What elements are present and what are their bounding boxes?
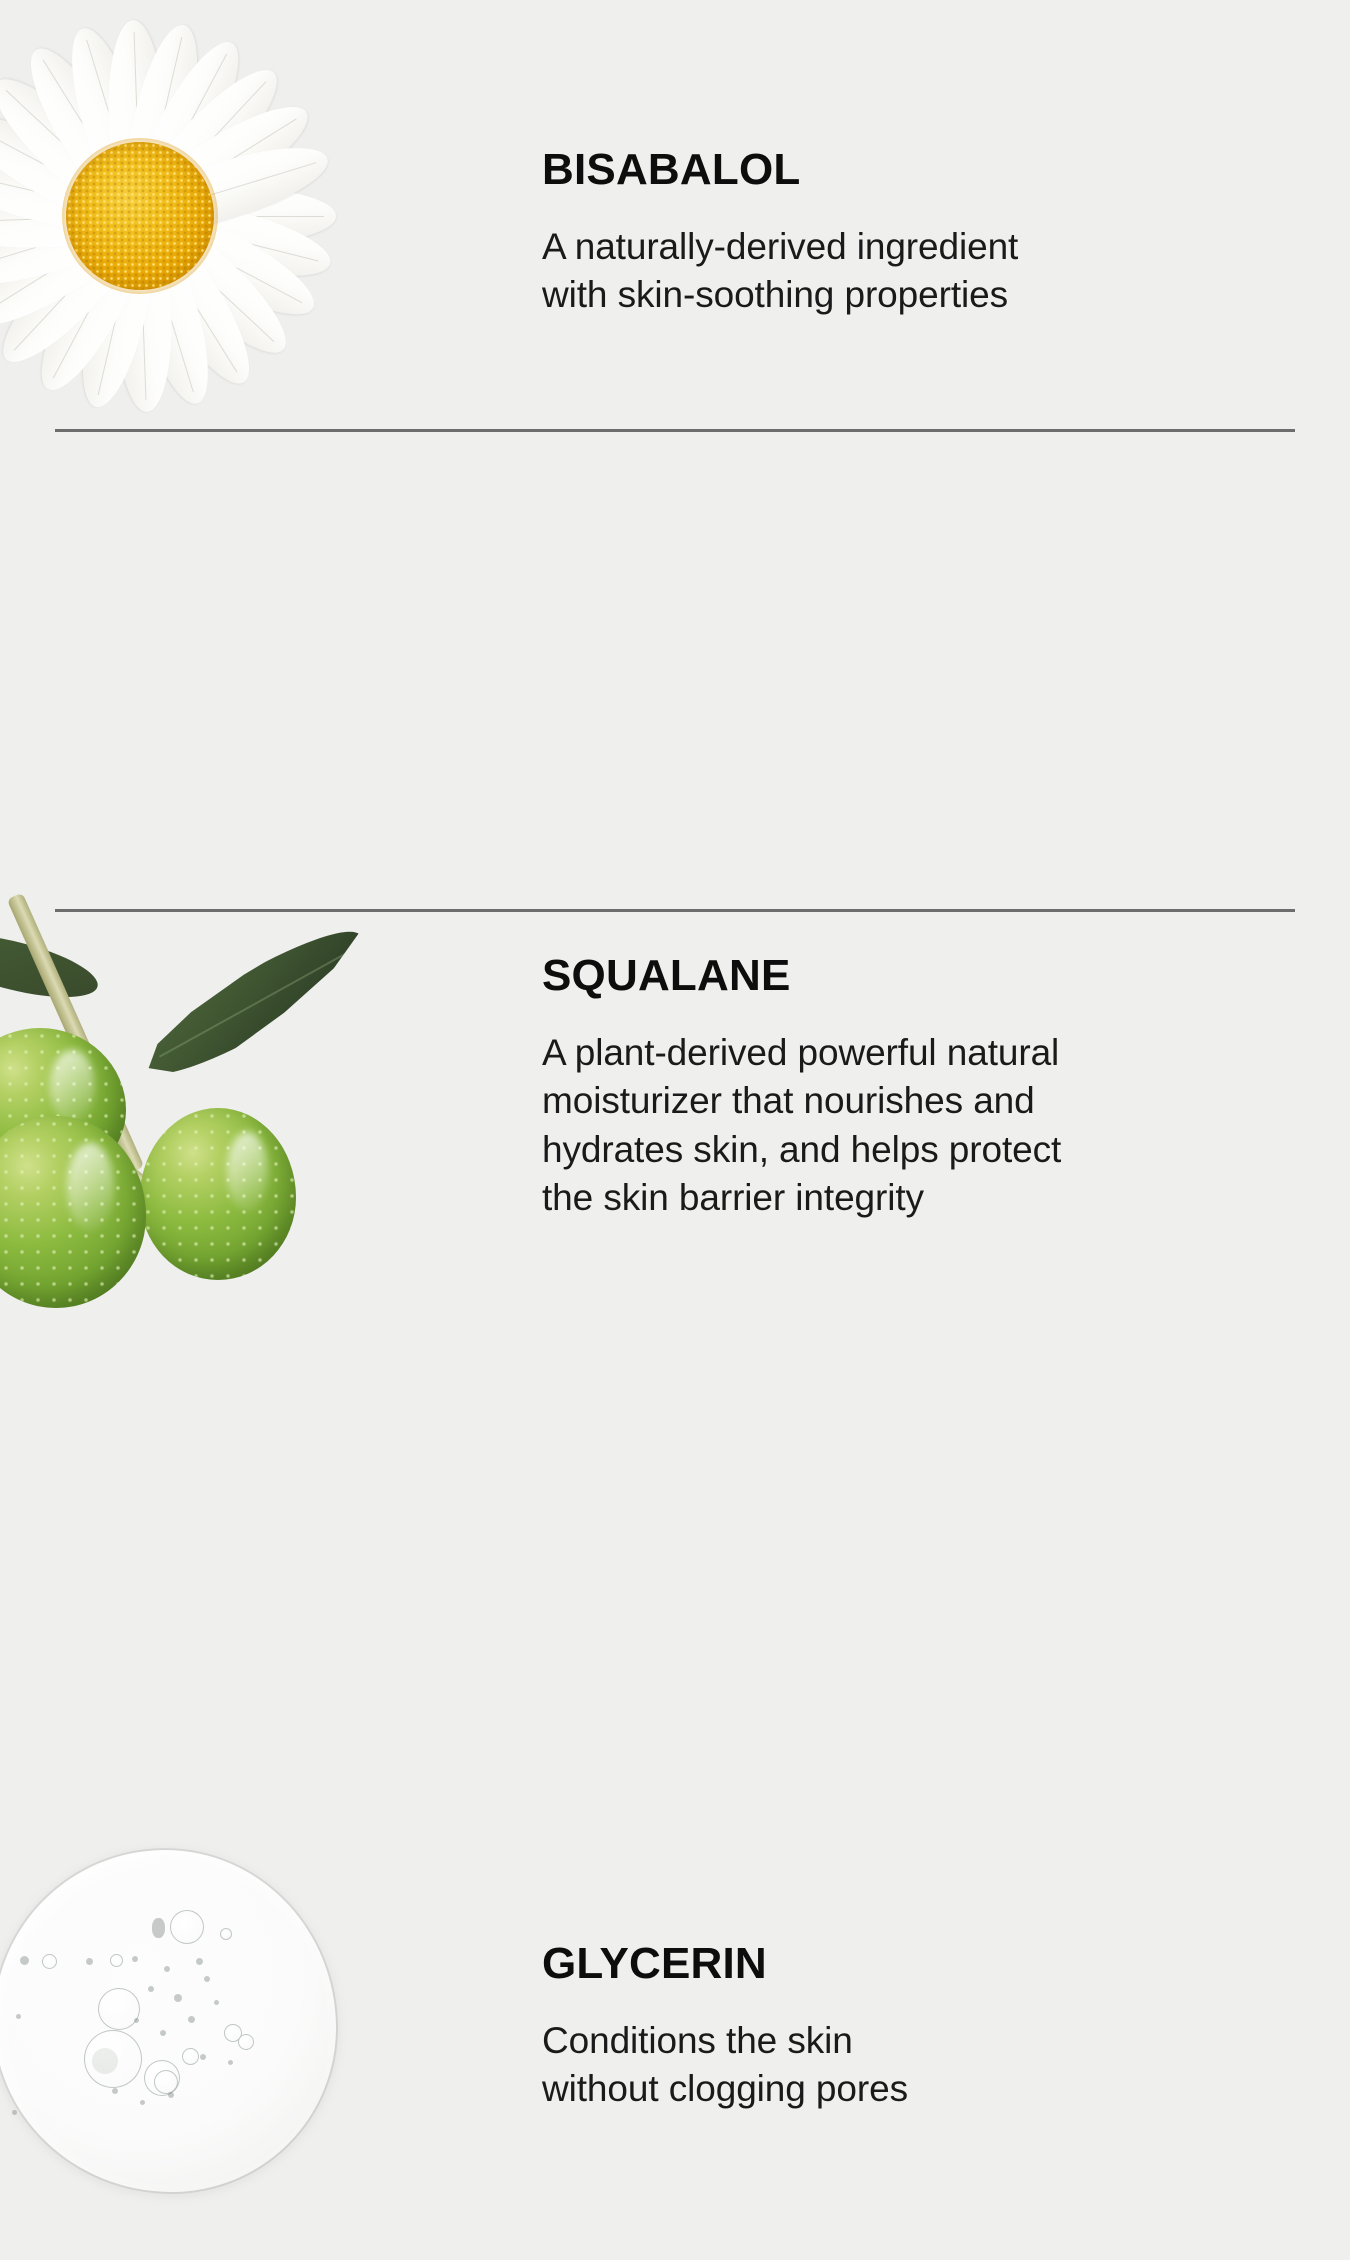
green-olives-image-alt: Green olives on a branch with leaf (0, 860, 1, 861)
daisy-flower-image: White daisy flower with yellow center (0, 0, 400, 430)
ingredient-row-squalane: Green olives on a branch with leaf SQUAL… (0, 430, 1350, 910)
clear-gel-droplet-image-alt: Clear gel droplet with air bubbles (0, 1820, 1, 1821)
ingredient-text-glycerin: GLYCERIN Conditions the skin without clo… (542, 1942, 1182, 2114)
ingredient-row-bisabalol: White daisy flower with yellow center (0, 0, 1350, 430)
daisy-center-disc (66, 142, 214, 290)
daisy-flower-image-alt: White daisy flower with yellow center (0, 0, 1, 1)
ingredient-benefits-panel: White daisy flower with yellow center (0, 0, 1350, 1350)
ingredient-description-glycerin: Conditions the skin without clogging por… (542, 2017, 1182, 2114)
clear-gel-droplet-image: Clear gel droplet with air bubbles (0, 1820, 400, 2260)
ingredient-title-bisabalol: BISABALOL (542, 148, 1182, 192)
ingredient-text-bisabalol: BISABALOL A naturally-derived ingredient… (542, 148, 1182, 320)
ingredient-description-bisabalol: A naturally-derived ingredient with skin… (542, 223, 1182, 320)
olive-fruit-right (140, 1108, 296, 1280)
gel-droplet-graphic (0, 1848, 338, 2194)
ingredient-title-glycerin: GLYCERIN (542, 1942, 1182, 1986)
